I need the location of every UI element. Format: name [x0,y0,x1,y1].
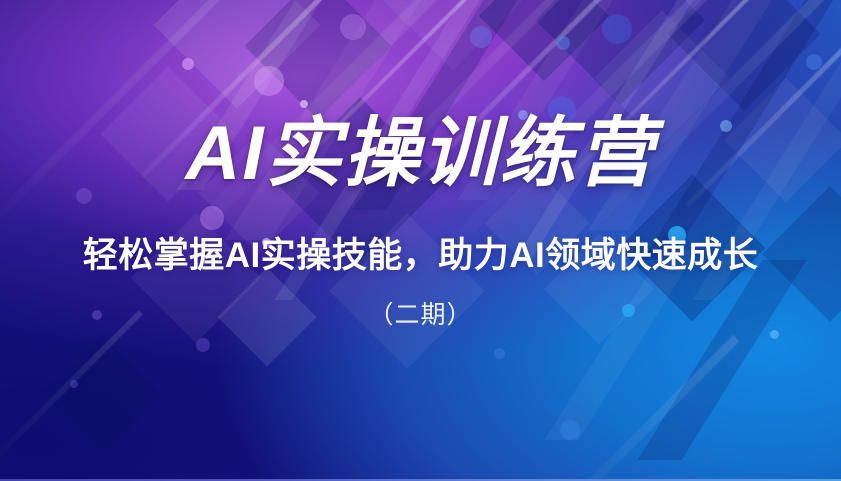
page-title: AI实操训练营 [186,116,656,192]
banner-subtitle: 轻松掌握AI实操技能，助力AI领域快速成长 [83,238,759,273]
banner-text-block: AI实操训练营 轻松掌握AI实操技能，助力AI领域快速成长 （二期） [0,0,841,481]
course-banner: AI实操训练营 轻松掌握AI实操技能，助力AI领域快速成长 （二期） [0,0,841,481]
banner-edition-label: （二期） [368,303,472,328]
